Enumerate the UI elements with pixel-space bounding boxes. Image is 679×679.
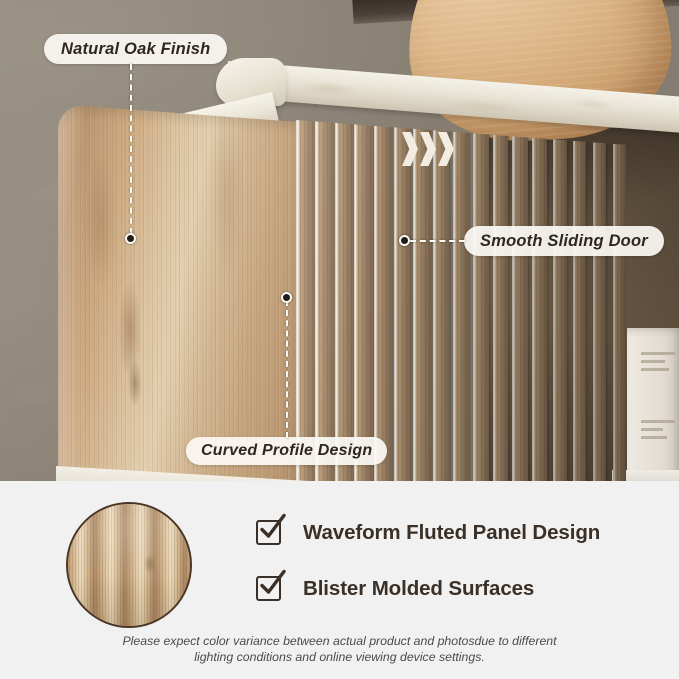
fluted-sliding-door [296,120,626,481]
features-panel: Waveform Fluted Panel Design Blister Mol… [0,481,679,679]
product-photo: Natural Oak Finish Smooth Sliding Door C… [0,0,679,481]
callout-connector-curved-profile-design [286,300,288,438]
wood-grain-knots [58,104,298,481]
color-variance-disclaimer: Please expect color variance between act… [0,633,679,665]
feature-list: Waveform Fluted Panel Design Blister Mol… [256,519,600,631]
checkbox-checked-icon [256,575,283,602]
cabinet-oak-side-panel [58,104,298,481]
chevron-right-triple-icon [398,128,490,174]
feature-label: Waveform Fluted Panel Design [303,521,600,545]
callout-connector-natural-oak-finish [130,64,132,234]
fluted-wood-swatch-icon [66,502,192,628]
check-mark-icon [255,567,289,601]
callout-dot-curved-profile-design [281,292,292,303]
swatch-shading [68,504,190,626]
callout-label-natural-oak-finish: Natural Oak Finish [44,34,227,64]
callout-dot-smooth-sliding-door [399,235,410,246]
feature-label: Blister Molded Surfaces [303,577,534,601]
callout-label-smooth-sliding-door: Smooth Sliding Door [464,226,664,256]
list-item: Blister Molded Surfaces [256,575,600,602]
callout-label-curved-profile-design: Curved Profile Design [186,437,387,465]
check-mark-icon [255,511,289,545]
checkbox-checked-icon [256,519,283,546]
curved-edge-highlight [58,104,84,481]
door-shading [296,120,626,481]
list-item: Waveform Fluted Panel Design [256,519,600,546]
callout-dot-natural-oak-finish [125,233,136,244]
callout-connector-smooth-sliding-door [410,240,465,242]
